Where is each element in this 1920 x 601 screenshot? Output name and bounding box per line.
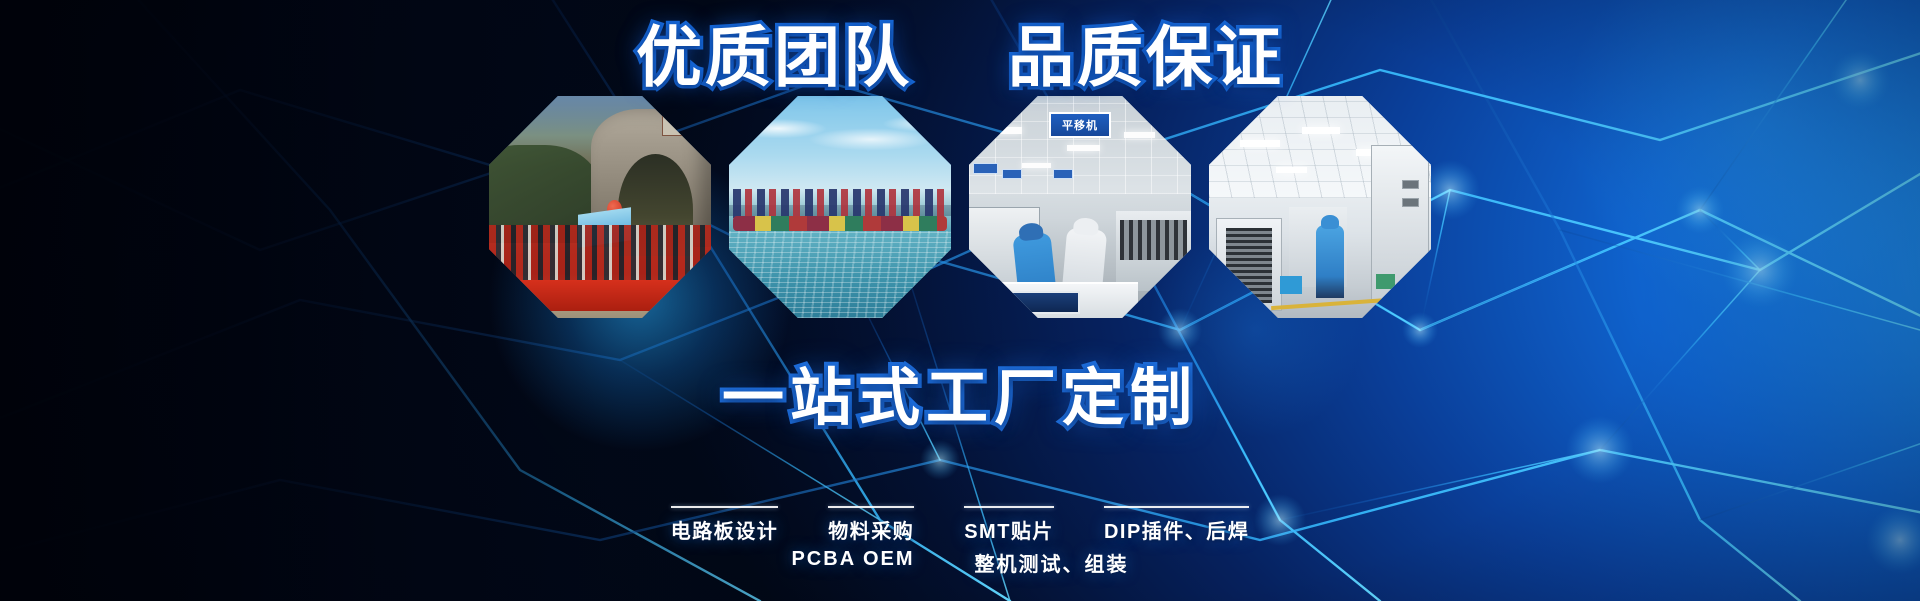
service-rule bbox=[828, 506, 914, 508]
promo-banner: 优质团队 品质保证 bbox=[0, 0, 1920, 601]
service-item-pcba-oem: PCBA OEM bbox=[783, 548, 922, 571]
photo-team-outing-image bbox=[489, 96, 711, 318]
service-label: SMT贴片 bbox=[964, 515, 1054, 544]
service-item-smt: SMT贴片 bbox=[956, 506, 1062, 544]
service-rule bbox=[1104, 506, 1249, 508]
main-headline: 一站式工厂定制 bbox=[0, 362, 1920, 436]
service-rule bbox=[964, 506, 1054, 508]
service-label: DIP插件、后焊 bbox=[1104, 515, 1249, 544]
photo-dragon-boat bbox=[729, 96, 951, 318]
photo-dragon-boat-image bbox=[729, 96, 951, 318]
service-item-material-purchase: 物料采购 bbox=[820, 506, 922, 544]
photo-smt-sign-label: 平移机 bbox=[1049, 112, 1111, 139]
photo-smt-line-image: 平移机 bbox=[969, 96, 1191, 318]
main-headline-text: 一站式工厂定制 bbox=[722, 362, 1198, 436]
service-label: PCBA OEM bbox=[791, 548, 914, 571]
headline-quality-team: 优质团队 bbox=[636, 16, 912, 99]
photo-smt-line: 平移机 bbox=[969, 96, 1191, 318]
service-list-row-1: 电路板设计 物料采购 SMT贴片 DIP插件、后焊 bbox=[0, 506, 1920, 544]
top-headline-group: 优质团队 品质保证 bbox=[0, 16, 1920, 99]
service-item-assembly-test: 整机测试、组装 bbox=[967, 548, 1137, 577]
service-item-pcb-design: 电路板设计 bbox=[663, 506, 787, 544]
headline-quality-assurance: 品质保证 bbox=[1008, 16, 1284, 99]
service-label: 整机测试、组装 bbox=[975, 548, 1129, 577]
service-label: 电路板设计 bbox=[671, 515, 779, 544]
service-label: 物料采购 bbox=[828, 515, 914, 544]
photo-team-outing bbox=[489, 96, 711, 318]
photo-clean-room bbox=[1209, 96, 1431, 318]
photo-strip: 平移机 bbox=[0, 96, 1920, 324]
service-item-dip: DIP插件、后焊 bbox=[1096, 506, 1257, 544]
photo-clean-room-image bbox=[1209, 96, 1431, 318]
service-list-row-2: PCBA OEM 整机测试、组装 bbox=[0, 548, 1920, 577]
service-rule bbox=[671, 506, 779, 508]
